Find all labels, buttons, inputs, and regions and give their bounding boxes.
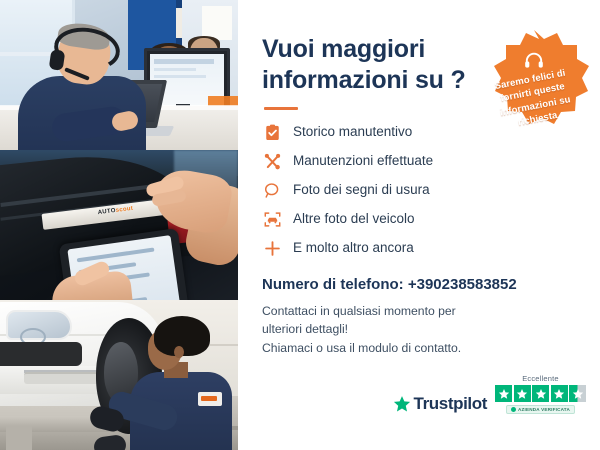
photo-mechanic-wheel-inspection <box>0 300 238 450</box>
car-grille <box>0 342 82 366</box>
star-filled <box>495 385 512 402</box>
strip-brand-label: AUTOscout <box>97 206 133 216</box>
contact-line-two: Chiamaci o usa il modulo di contatto. <box>262 341 461 355</box>
trustpilot-logo: Trustpilot <box>393 394 487 414</box>
contact-line-one: Contattaci in qualsiasi momento per ulte… <box>262 304 456 336</box>
contact-block: Numero di telefono: +390238583852 Contat… <box>262 276 578 357</box>
trustpilot-rating: Eccellente <box>495 374 586 414</box>
verified-label: AZIENDA VERIFICATA <box>518 407 570 412</box>
trustpilot-rating-label: Eccellente <box>522 374 559 383</box>
page-title: Vuoi maggiori informazioni su ? <box>262 34 472 95</box>
callout-badge: Saremo felici di fornirti queste informa… <box>474 28 594 150</box>
feature-label: Foto dei segni di usura <box>293 182 430 198</box>
trustpilot-wordmark: Trustpilot <box>414 394 487 414</box>
verified-check-icon <box>511 407 516 412</box>
vehicle-lift-leg <box>6 426 32 450</box>
screen-ui-line-two <box>154 75 206 78</box>
mechanic <box>124 316 232 450</box>
feature-label: Altre foto del veicolo <box>293 211 415 227</box>
phone-label: Numero di telefono: <box>262 276 404 293</box>
list-item: Storico manutentivo <box>262 122 477 142</box>
feature-label: Storico manutentivo <box>293 124 412 140</box>
info-request-card: AUTOscout <box>0 0 600 450</box>
feature-label: E molto altro ancora <box>293 240 414 256</box>
wall-paper-sheet <box>202 6 232 40</box>
feature-label: Manutenzioni effettuate <box>293 153 433 169</box>
photo-call-center-agent-headset <box>0 0 238 150</box>
magnifier-icon <box>262 180 282 200</box>
mechanic-uniform-patch <box>198 392 222 406</box>
list-item: E molto altro ancora <box>262 238 477 258</box>
car-photo-frame-icon <box>262 209 282 229</box>
star-filled <box>514 385 531 402</box>
tablet-screen-line-one <box>77 248 155 263</box>
star-filled <box>551 385 568 402</box>
photo-column: AUTOscout <box>0 0 238 450</box>
trustpilot-star-icon <box>393 395 411 413</box>
star-half <box>569 385 586 402</box>
trustpilot-stars <box>495 385 586 402</box>
info-panel: Vuoi maggiori informazioni su ? Saremo f… <box>238 0 600 450</box>
phone-number[interactable]: +390238583852 <box>408 276 517 293</box>
screen-ui-bar <box>154 59 214 64</box>
list-item: Manutenzioni effettuate <box>262 151 477 171</box>
car-headlight <box>6 310 72 340</box>
list-item: Foto dei segni di usura <box>262 180 477 200</box>
tools-cross-icon <box>262 151 282 171</box>
badge-text: Saremo felici di fornirti queste informa… <box>482 64 587 135</box>
star-filled <box>532 385 549 402</box>
mechanic-ear <box>174 346 184 358</box>
list-item: Altre foto del veicolo <box>262 209 477 229</box>
verified-badge: AZIENDA VERIFICATA <box>506 405 575 414</box>
photo-technician-tablet-car-body: AUTOscout <box>0 150 238 300</box>
phone-line: Numero di telefono: +390238583852 <box>262 276 578 293</box>
clipboard-check-icon <box>262 122 282 142</box>
screen-ui-line-one <box>154 68 196 71</box>
title-underline-rule <box>264 107 298 110</box>
contact-paragraph: Contattaci in qualsiasi momento per ulte… <box>262 302 492 357</box>
badge-content: Saremo felici di fornirti queste informa… <box>474 28 594 150</box>
headset-icon <box>523 51 545 69</box>
feature-list: Storico manutentivo Manutenzioni effettu… <box>262 122 477 258</box>
trustpilot-widget[interactable]: Trustpilot Eccellente <box>393 374 586 414</box>
bumper-vent <box>24 372 104 384</box>
plus-icon <box>262 238 282 258</box>
